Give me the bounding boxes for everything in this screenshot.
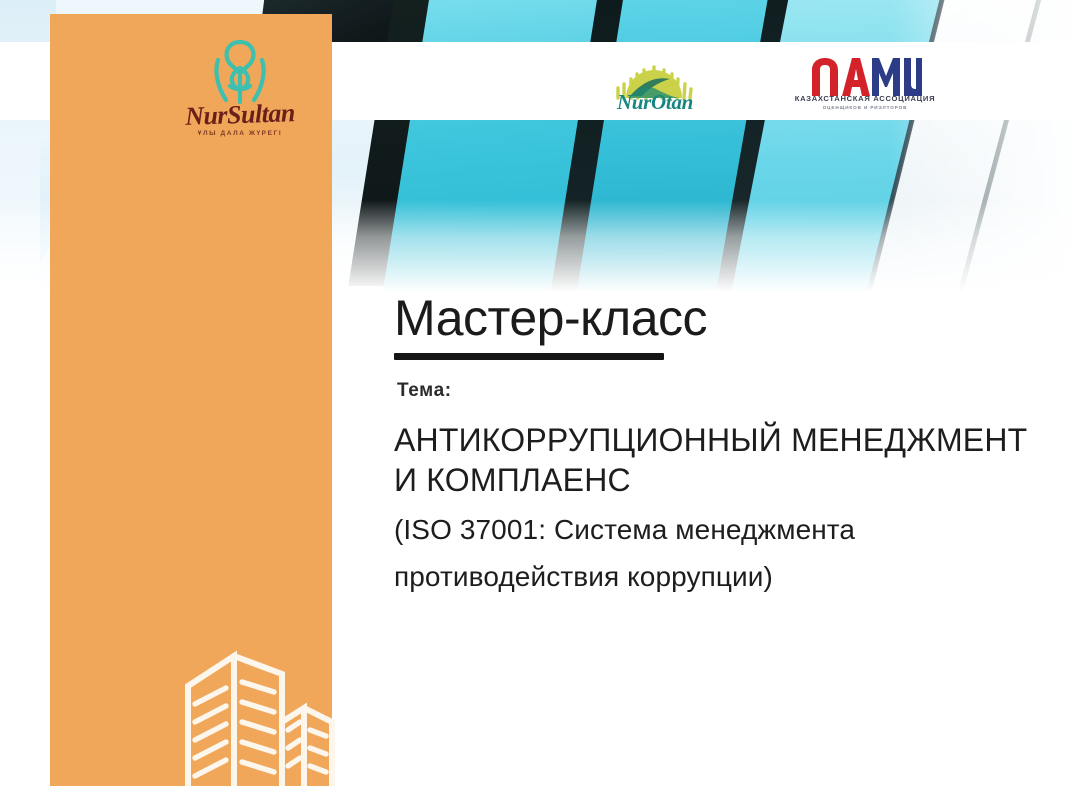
city-buildings-outline-icon xyxy=(178,626,338,786)
orange-side-panel: NurSultan ҰЛЫ ДАЛА ЖҮРЕГІ xyxy=(50,14,332,786)
damu-caption-line2: ОЦЕНЩИКОВ И РИЭЛТОРОВ xyxy=(786,105,944,110)
nursultan-tagline: ҰЛЫ ДАЛА ЖҮРЕГІ xyxy=(160,130,320,137)
topic-main-line1: АНТИКОРРУПЦИОННЫЙ МЕНЕДЖМЕНТ xyxy=(394,420,1062,460)
title-underline-rule xyxy=(394,353,664,360)
nursultan-logo: NurSultan ҰЛЫ ДАЛА ЖҮРЕГІ xyxy=(160,38,320,146)
topic-body: АНТИКОРРУПЦИОННЫЙ МЕНЕДЖМЕНТ И КОМПЛАЕНС… xyxy=(394,420,1062,596)
title-slide: NurSultan ҰЛЫ ДАЛА ЖҮРЕГІ xyxy=(0,0,1070,786)
title-block: Мастер-класс xyxy=(394,292,1054,360)
nursultan-arch-monument-icon xyxy=(200,38,280,106)
nurotan-logo: NurOtan xyxy=(596,48,714,120)
slide-title: Мастер-класс xyxy=(394,292,1054,345)
nurotan-wordmark: NurOtan xyxy=(596,90,714,115)
topic-sub-line1: (ISO 37001: Система менеджмента xyxy=(394,511,1062,549)
damu-caption-line1: КАЗАХСТАНСКАЯ АССОЦИАЦИЯ xyxy=(786,94,944,103)
topic-sub-line2: противодействия коррупции) xyxy=(394,558,1062,596)
topic-main-line2: И КОМПЛАЕНС xyxy=(394,460,1062,500)
damu-buildings-wordmark-icon xyxy=(808,54,924,96)
damu-logo: КАЗАХСТАНСКАЯ АССОЦИАЦИЯ ОЦЕНЩИКОВ И РИЭ… xyxy=(786,54,944,116)
topic-label: Тема: xyxy=(397,380,452,402)
nursultan-wordmark: NurSultan xyxy=(160,97,321,133)
